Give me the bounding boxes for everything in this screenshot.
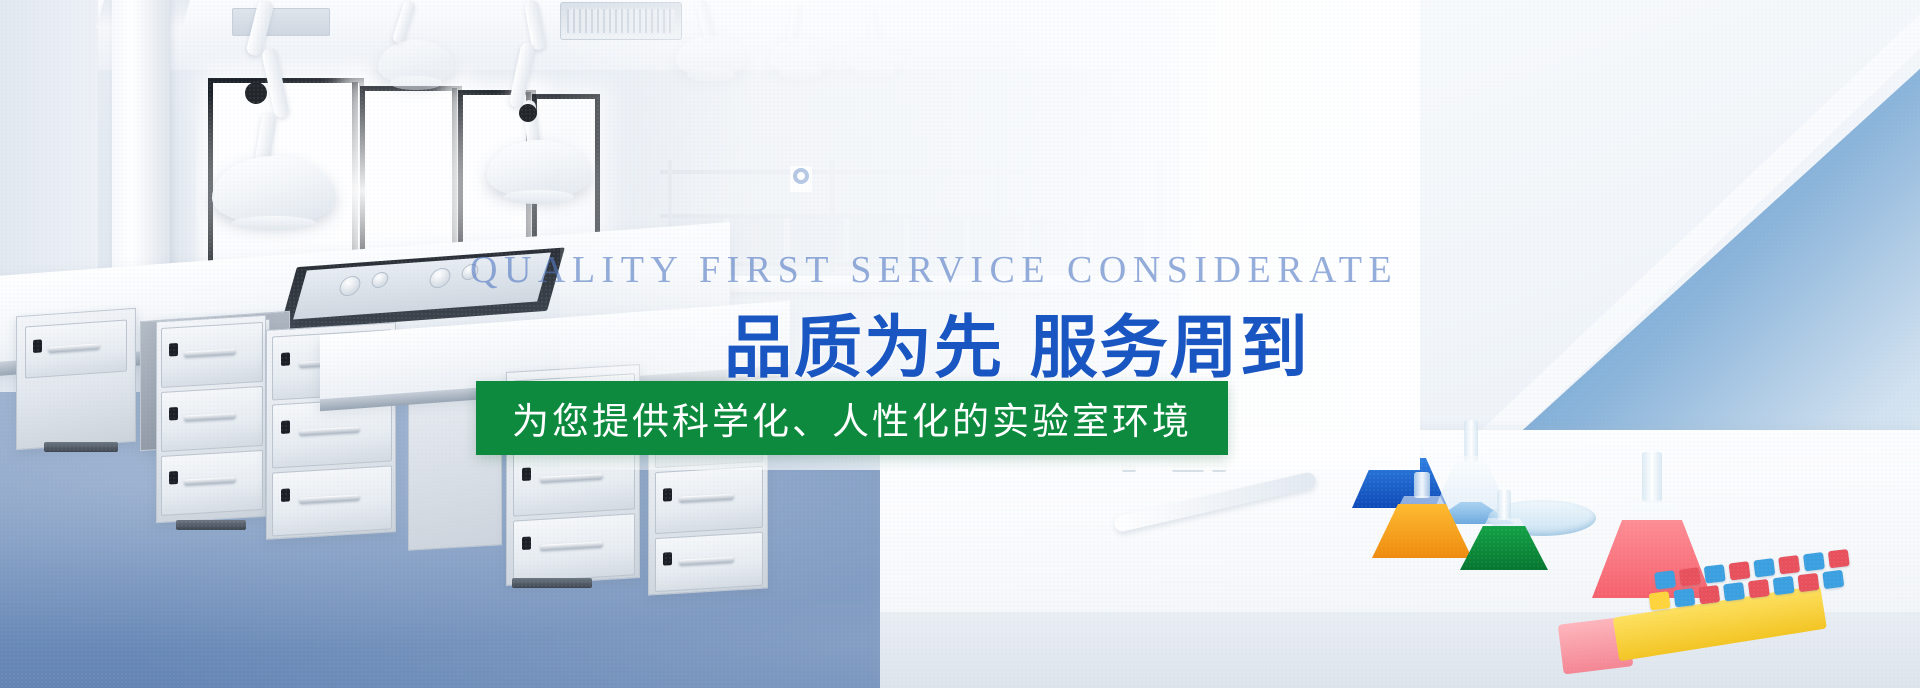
label-chip	[1172, 462, 1204, 472]
drawer-lock-icon	[169, 407, 178, 421]
shelf-rail	[660, 170, 1180, 174]
orange-erlenmeyer-flask	[1372, 472, 1472, 558]
drawer	[161, 322, 263, 388]
dome-lamp-hood	[846, 38, 904, 72]
drawer	[161, 386, 263, 452]
drawer	[272, 465, 392, 536]
arm-joint	[245, 82, 267, 104]
microtube	[1673, 588, 1695, 607]
english-tagline: QUALITY FIRST SERVICE CONSIDERATE	[470, 248, 1398, 292]
cabinet-foot	[44, 442, 118, 452]
drawer-lock-icon	[663, 552, 672, 566]
drawer	[655, 532, 763, 592]
drawer	[655, 466, 763, 534]
microtube	[1723, 582, 1745, 601]
flask-liquid	[1460, 526, 1548, 570]
microtube	[1753, 558, 1775, 577]
microtube	[1773, 576, 1795, 595]
drawer	[513, 513, 635, 582]
green-subtitle-bar: 为您提供科学化、人性化的实验室环境	[476, 381, 1228, 455]
drawer-lock-icon	[33, 339, 42, 353]
side-cabinet	[16, 308, 136, 450]
drawer-lock-icon	[522, 536, 531, 550]
arm-joint	[519, 104, 537, 122]
drawer-lock-icon	[281, 421, 290, 435]
dome-lamp-hood	[770, 38, 832, 74]
drawer	[161, 450, 263, 516]
drawer-handle	[184, 349, 236, 358]
flask-neck	[1464, 420, 1478, 462]
drawer-stack	[156, 315, 266, 524]
label-chip	[1212, 462, 1226, 472]
drawer-handle	[184, 413, 236, 422]
drawer-lock-icon	[281, 353, 290, 367]
flask-neck	[1414, 472, 1430, 498]
microtube	[1729, 561, 1751, 580]
green-bar-text: 为您提供科学化、人性化的实验室环境	[512, 391, 1192, 445]
microtube	[1798, 573, 1820, 592]
drawer-handle	[679, 556, 734, 565]
cabinet-foot	[512, 578, 592, 588]
flask-neck	[1497, 490, 1511, 520]
hero-banner: QUALITY FIRST SERVICE CONSIDERATE 品质为先 服…	[0, 0, 1920, 688]
drawer-lock-icon	[663, 488, 672, 502]
drawer-handle	[299, 494, 360, 504]
flask-liquid	[1372, 504, 1472, 558]
drawer-lock-icon	[169, 471, 178, 485]
drawer-handle	[540, 473, 602, 483]
microtube	[1748, 579, 1770, 598]
microtube	[1679, 567, 1701, 586]
drawer-handle	[299, 426, 360, 436]
drawer-handle	[679, 494, 734, 503]
drawer-handle	[48, 343, 100, 353]
shelf-brand-logo-icon	[790, 166, 812, 192]
flask-neck	[1392, 390, 1408, 438]
microtube	[1778, 555, 1800, 574]
drawer-handle	[184, 477, 236, 486]
drawer-handle	[540, 541, 602, 551]
microtube	[1654, 570, 1676, 589]
microtube	[1649, 591, 1671, 610]
drawer-lock-icon	[281, 489, 290, 503]
flask-neck	[1642, 452, 1662, 502]
cabinet-foot	[176, 520, 246, 530]
microtube	[1698, 585, 1720, 604]
ceiling-vent-tile	[232, 8, 330, 36]
green-erlenmeyer-flask	[1460, 490, 1548, 570]
microtube	[1704, 564, 1726, 583]
drawer-lock-icon	[169, 343, 178, 357]
cabinet-door	[25, 319, 127, 378]
microtube	[1828, 549, 1850, 568]
drawer-lock-icon	[522, 467, 531, 481]
chinese-headline: 品质为先 服务周到	[724, 292, 1310, 391]
microtube	[1822, 570, 1844, 589]
air-conditioning-vent	[560, 2, 682, 40]
label-chip	[1122, 462, 1136, 472]
microtube	[1803, 552, 1825, 571]
